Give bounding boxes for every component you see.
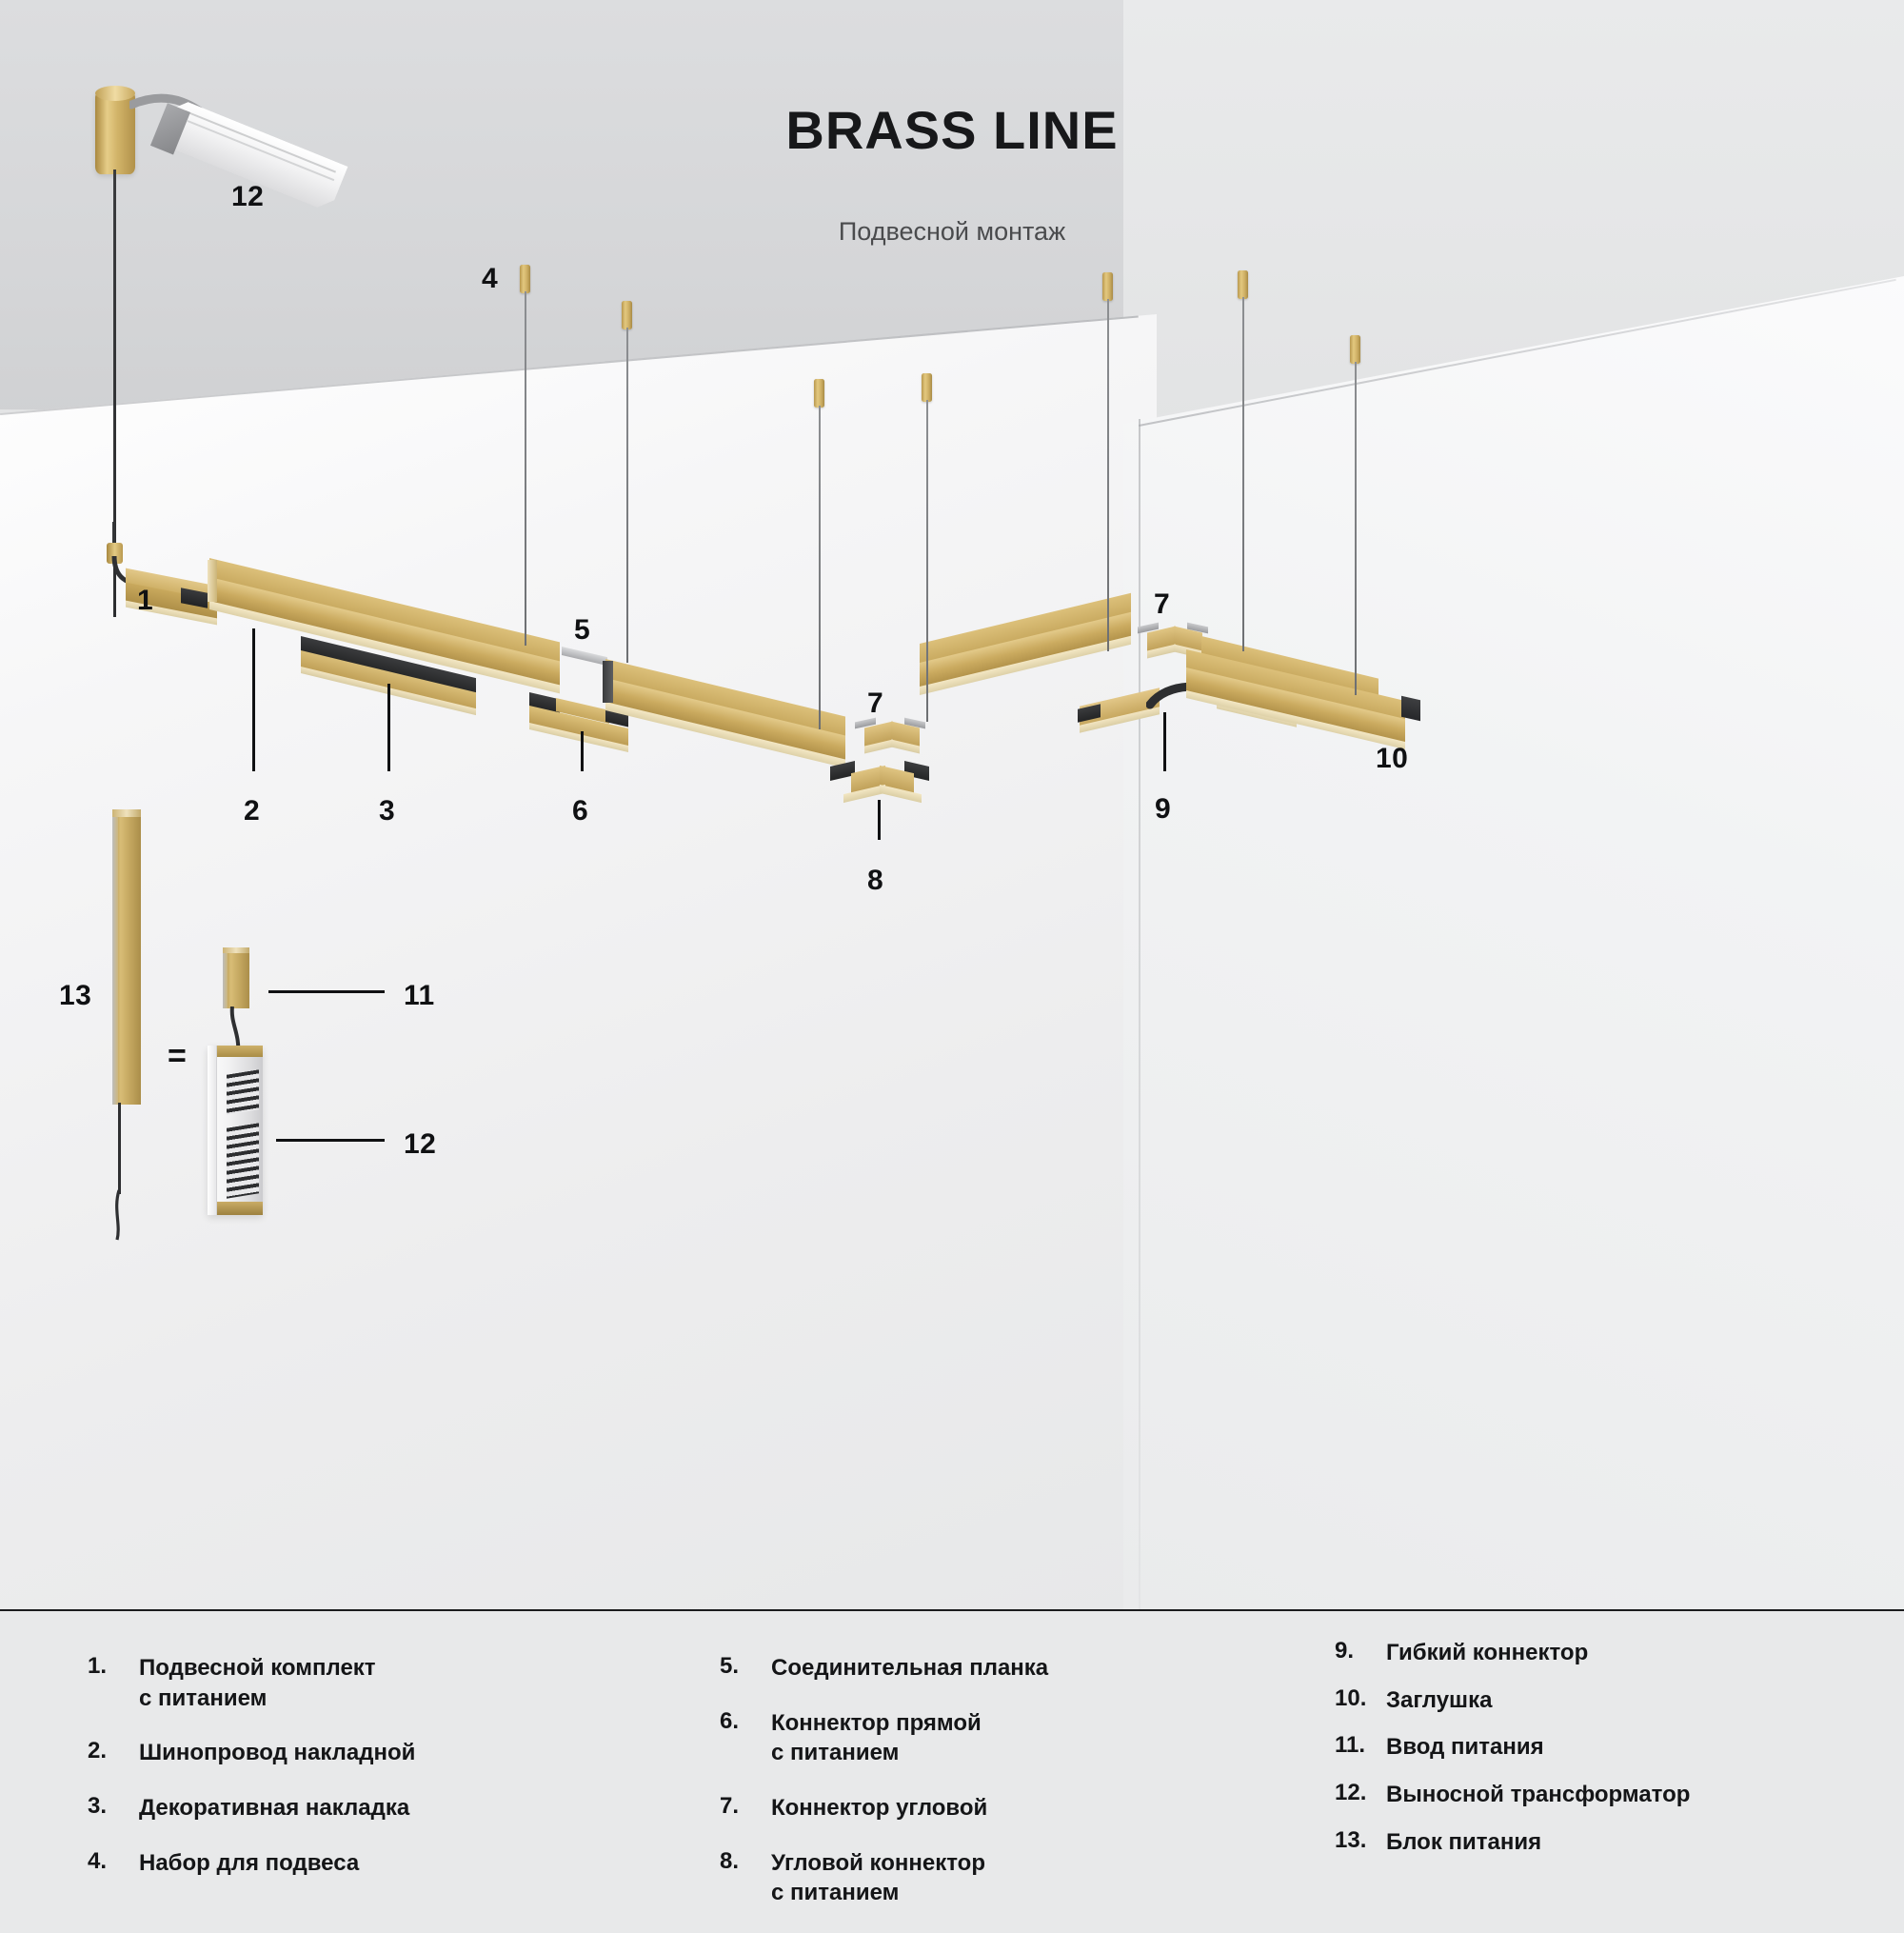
ceiling-anchor [520, 265, 530, 293]
legend-item: 7. Коннектор угловой [720, 1793, 1167, 1823]
callout-6: 6 [572, 795, 588, 827]
legend-panel: 1. Подвесной комплект с питанием 2. Шино… [0, 1609, 1904, 1904]
legend-label: Шинопровод накладной [139, 1738, 415, 1768]
track-left-endcap [603, 661, 613, 703]
callout-13: 13 [59, 980, 91, 1012]
track-segment-far-right [1186, 649, 1405, 754]
legend-item: 6. Коннектор прямой с питанием [720, 1708, 1167, 1768]
callout-12-top: 12 [231, 181, 264, 213]
leader-line-6 [581, 731, 584, 771]
psu-left-flange [208, 1046, 217, 1215]
leader-line-12b [276, 1139, 385, 1142]
power-input-left-edge [223, 953, 228, 1008]
callout-12-bottom: 12 [404, 1128, 436, 1161]
suspension-wire [1107, 299, 1109, 651]
callout-2: 2 [244, 795, 260, 827]
suspension-wire [819, 406, 821, 729]
legend-label: Гибкий коннектор [1386, 1638, 1588, 1668]
legend-item: 13. Блок питания [1335, 1827, 1849, 1858]
leader-line-9 [1163, 712, 1166, 771]
suspension-wire [626, 328, 628, 663]
track-segment-right-wall-a [920, 644, 1131, 748]
legend-label: Соединительная планка [771, 1653, 1048, 1684]
legend-label: Ввод питания [1386, 1732, 1544, 1763]
wall-plane-left [0, 314, 1157, 1609]
legend-item: 5. Соединительная планка [720, 1653, 1167, 1684]
legend-item: 2. Шинопровод накладной [88, 1738, 535, 1768]
callout-4: 4 [482, 263, 498, 295]
callout-11: 11 [404, 980, 435, 1012]
legend-number: 10. [1335, 1685, 1386, 1716]
leader-line-2 [252, 628, 255, 771]
legend-item: 11. Ввод питания [1335, 1732, 1849, 1763]
legend-number: 6. [720, 1708, 771, 1768]
end-cap-body [1401, 696, 1420, 722]
track-left-endcap [208, 560, 217, 602]
legend-item: 12. Выносной трансформатор [1335, 1780, 1849, 1810]
legend-number: 2. [88, 1738, 139, 1768]
ceiling-anchor [1238, 270, 1248, 299]
leader-line-8 [878, 800, 881, 840]
legend-label: Блок питания [1386, 1827, 1541, 1858]
suspension-wire [1242, 297, 1244, 651]
ceiling-anchor [1102, 272, 1113, 301]
page-title: BRASS LINE [0, 99, 1904, 161]
callout-10: 10 [1376, 743, 1408, 775]
plate-body [562, 647, 607, 666]
psu-vent-group-upper [227, 1069, 259, 1114]
legend-number: 5. [720, 1653, 771, 1684]
bar-left-edge [112, 817, 118, 1105]
ceiling-anchor [622, 301, 632, 329]
legend-number: 3. [88, 1793, 139, 1823]
legend-label: Подвесной комплект с питанием [139, 1653, 376, 1713]
product-diagram-scene: = 1 2 3 4 5 6 7 7 8 9 10 11 12 12 13 BRA… [0, 0, 1904, 1609]
callout-3: 3 [379, 795, 395, 827]
legend-label: Выносной трансформатор [1386, 1780, 1690, 1810]
cable-bend [112, 522, 115, 545]
legend-number: 13. [1335, 1827, 1386, 1858]
psu-bottom-terminal [217, 1202, 263, 1215]
legend-number: 8. [720, 1848, 771, 1908]
ceiling-anchor [1350, 335, 1360, 364]
suspension-wire [1355, 362, 1357, 695]
bar-bottom-cable [118, 1103, 121, 1194]
connecting-plate [562, 647, 607, 664]
legend-item: 3. Декоративная накладка [88, 1793, 535, 1823]
legend-column-1: 1. Подвесной комплект с питанием 2. Шино… [88, 1653, 535, 1903]
ceiling-anchor [922, 373, 932, 402]
legend-item: 9. Гибкий коннектор [1335, 1638, 1849, 1668]
leader-line-11 [268, 990, 385, 993]
page-subtitle: Подвесной монтаж [0, 217, 1904, 247]
wall-corner-seam [1139, 419, 1140, 1609]
legend-number: 7. [720, 1793, 771, 1823]
legend-number: 1. [88, 1653, 139, 1713]
leader-line-3 [387, 684, 390, 771]
legend-label: Набор для подвеса [139, 1848, 359, 1879]
callout-7-right: 7 [1154, 588, 1170, 621]
legend-item: 10. Заглушка [1335, 1685, 1849, 1716]
legend-number: 12. [1335, 1780, 1386, 1810]
callout-8: 8 [867, 865, 883, 897]
legend-item: 1. Подвесной комплект с питанием [88, 1653, 535, 1713]
callout-9: 9 [1155, 793, 1171, 826]
legend-item: 8. Угловой коннектор с питанием [720, 1848, 1167, 1908]
psu-top-terminal [217, 1046, 263, 1057]
ceiling-anchor [814, 379, 824, 408]
legend-label: Декоративная накладка [139, 1793, 409, 1823]
legend-label: Заглушка [1386, 1685, 1492, 1716]
ceiling-wall-edge-left [0, 314, 1142, 421]
callout-7-left: 7 [867, 688, 883, 720]
callout-1: 1 [137, 585, 153, 617]
legend-column-2: 5. Соединительная планка 6. Коннектор пр… [720, 1653, 1167, 1933]
suspension-wire [926, 400, 928, 722]
legend-item: 4. Набор для подвеса [88, 1848, 535, 1879]
legend-number: 11. [1335, 1732, 1386, 1763]
wall-plane-right [1123, 267, 1904, 1609]
legend-column-3: 9. Гибкий коннектор 10. Заглушка 11. Вво… [1335, 1638, 1849, 1857]
legend-label: Угловой коннектор с питанием [771, 1848, 985, 1908]
legend-number: 9. [1335, 1638, 1386, 1668]
callout-5: 5 [574, 614, 590, 647]
equals-sign: = [168, 1038, 187, 1075]
legend-label: Коннектор угловой [771, 1793, 987, 1823]
psu-vent-group-lower [227, 1123, 259, 1198]
legend-label: Коннектор прямой с питанием [771, 1708, 982, 1768]
bar-cable-tail [109, 1188, 138, 1244]
track-segment-main-lower [605, 659, 845, 764]
legend-number: 4. [88, 1848, 139, 1879]
suspension-wire [525, 291, 526, 646]
